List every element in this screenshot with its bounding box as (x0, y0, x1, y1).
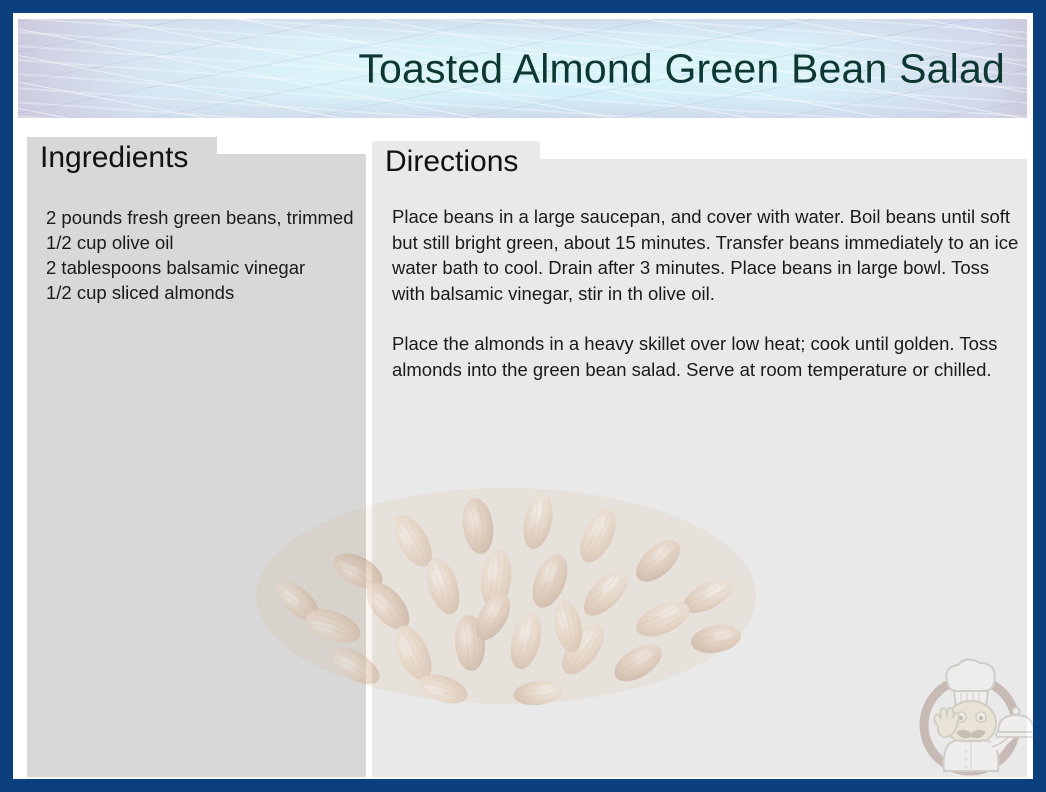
page-title: Toasted Almond Green Bean Salad (358, 45, 1005, 92)
ingredients-list: 2 pounds fresh green beans, trimmed 1/2 … (46, 205, 356, 305)
directions-text: Place beans in a large saucepan, and cov… (392, 204, 1020, 382)
directions-paragraph: Place the almonds in a heavy skillet ove… (392, 331, 1020, 382)
ingredients-heading: Ingredients (27, 137, 217, 179)
title-banner: Toasted Almond Green Bean Salad (18, 19, 1027, 118)
slide-page: Toasted Almond Green Bean Salad Ingredie… (13, 13, 1033, 779)
directions-heading: Directions (372, 141, 540, 183)
directions-paragraph: Place beans in a large saucepan, and cov… (392, 204, 1020, 306)
slide-frame: Toasted Almond Green Bean Salad Ingredie… (0, 0, 1046, 792)
